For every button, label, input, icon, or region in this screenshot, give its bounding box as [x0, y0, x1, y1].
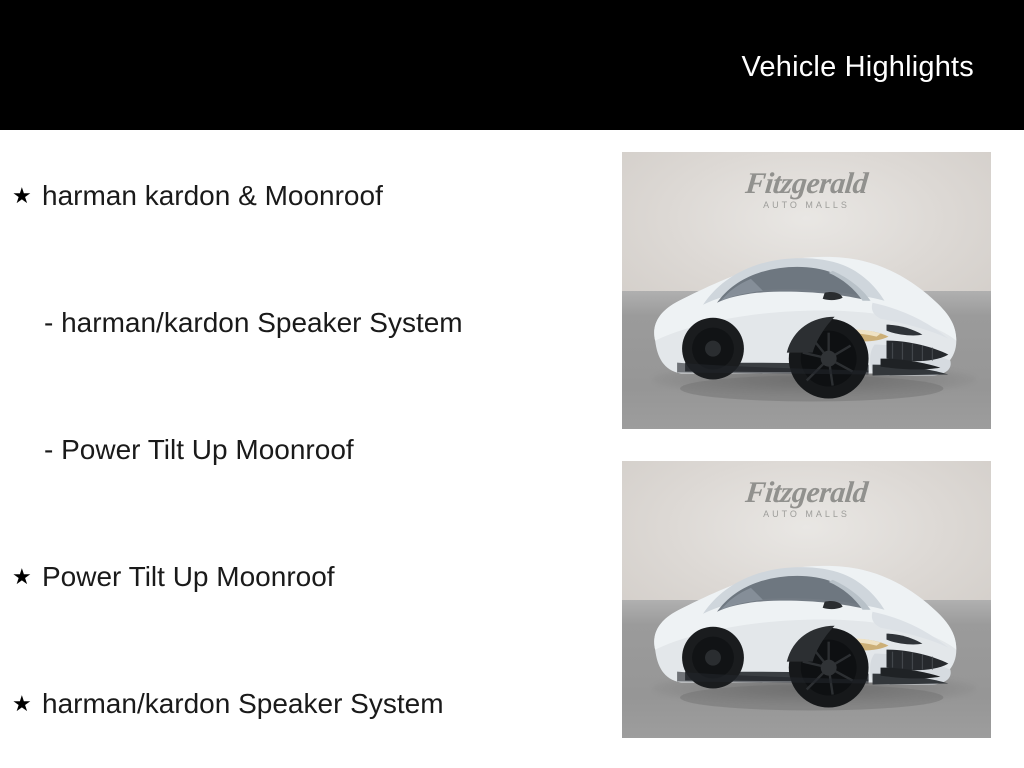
vehicle-photo-bottom: Fitzgerald AUTO MALLS	[622, 461, 991, 738]
vehicle-photo-top: Fitzgerald AUTO MALLS	[622, 152, 991, 429]
car-illustration	[637, 213, 976, 412]
list-item: - Power Tilt Up Moonroof	[0, 430, 600, 470]
list-item: ★ Power Tilt Up Moonroof	[0, 557, 600, 597]
list-item-label: harman/kardon Speaker System	[42, 687, 444, 721]
header-band: Vehicle Highlights	[0, 0, 1024, 130]
page-title: Vehicle Highlights	[741, 50, 974, 84]
vehicle-highlights-list: ★ harman kardon & Moonroof - harman/kard…	[0, 130, 600, 768]
list-item: ★ harman kardon & Moonroof	[0, 176, 600, 216]
list-item: - harman/kardon Speaker System	[0, 303, 600, 343]
list-item-label: - harman/kardon Speaker System	[42, 306, 463, 340]
star-bullet-icon: ★	[12, 563, 42, 591]
list-item-label: - Power Tilt Up Moonroof	[42, 433, 354, 467]
list-item-label: harman kardon & Moonroof	[42, 179, 383, 213]
car-illustration	[637, 522, 976, 721]
star-bullet-icon: ★	[12, 690, 42, 718]
list-item-label: Power Tilt Up Moonroof	[42, 560, 335, 594]
list-item: ★ harman/kardon Speaker System	[0, 684, 600, 724]
star-bullet-icon: ★	[12, 182, 42, 210]
